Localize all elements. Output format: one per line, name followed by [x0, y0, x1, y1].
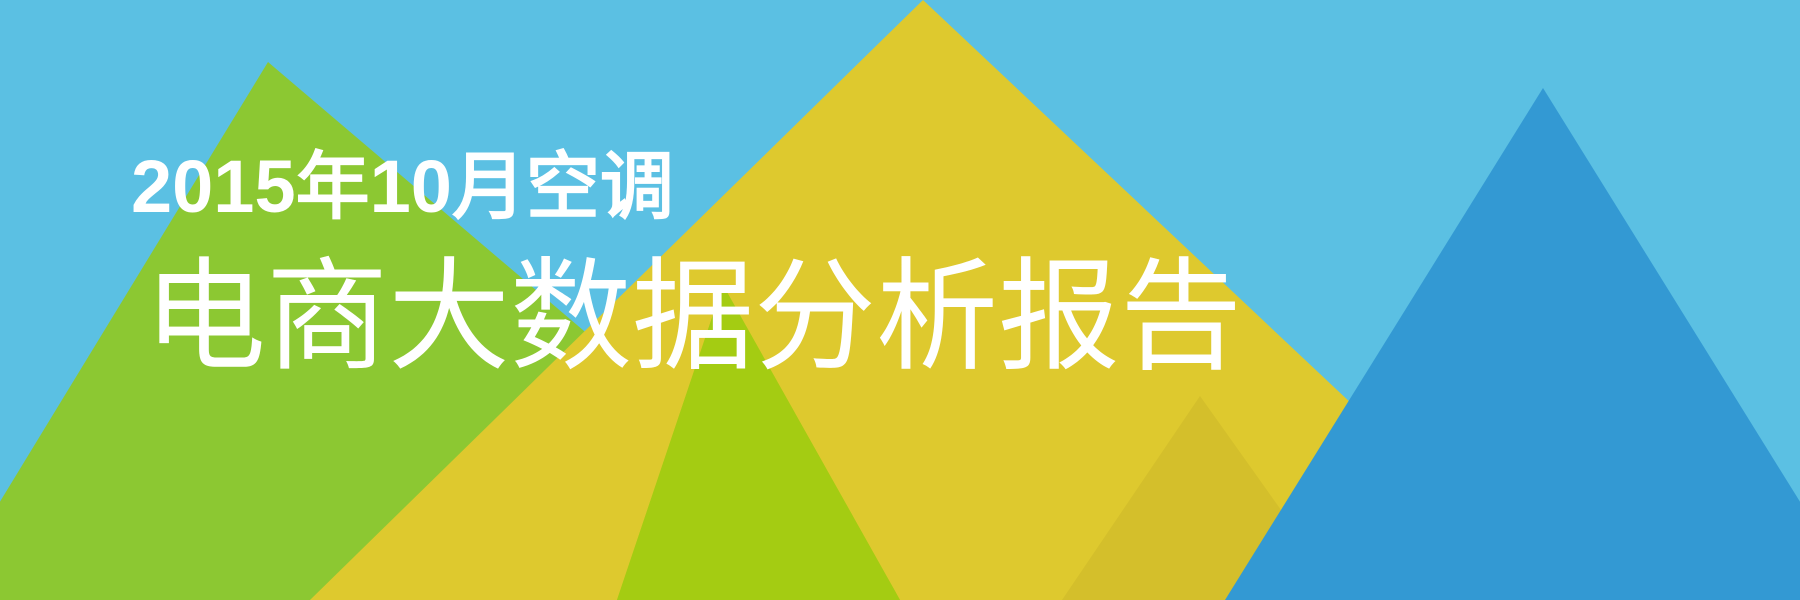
report-cover-slide: 2015年10月空调 电商大数据分析报告: [0, 0, 1800, 600]
background-geometric-artwork: [0, 0, 1800, 600]
